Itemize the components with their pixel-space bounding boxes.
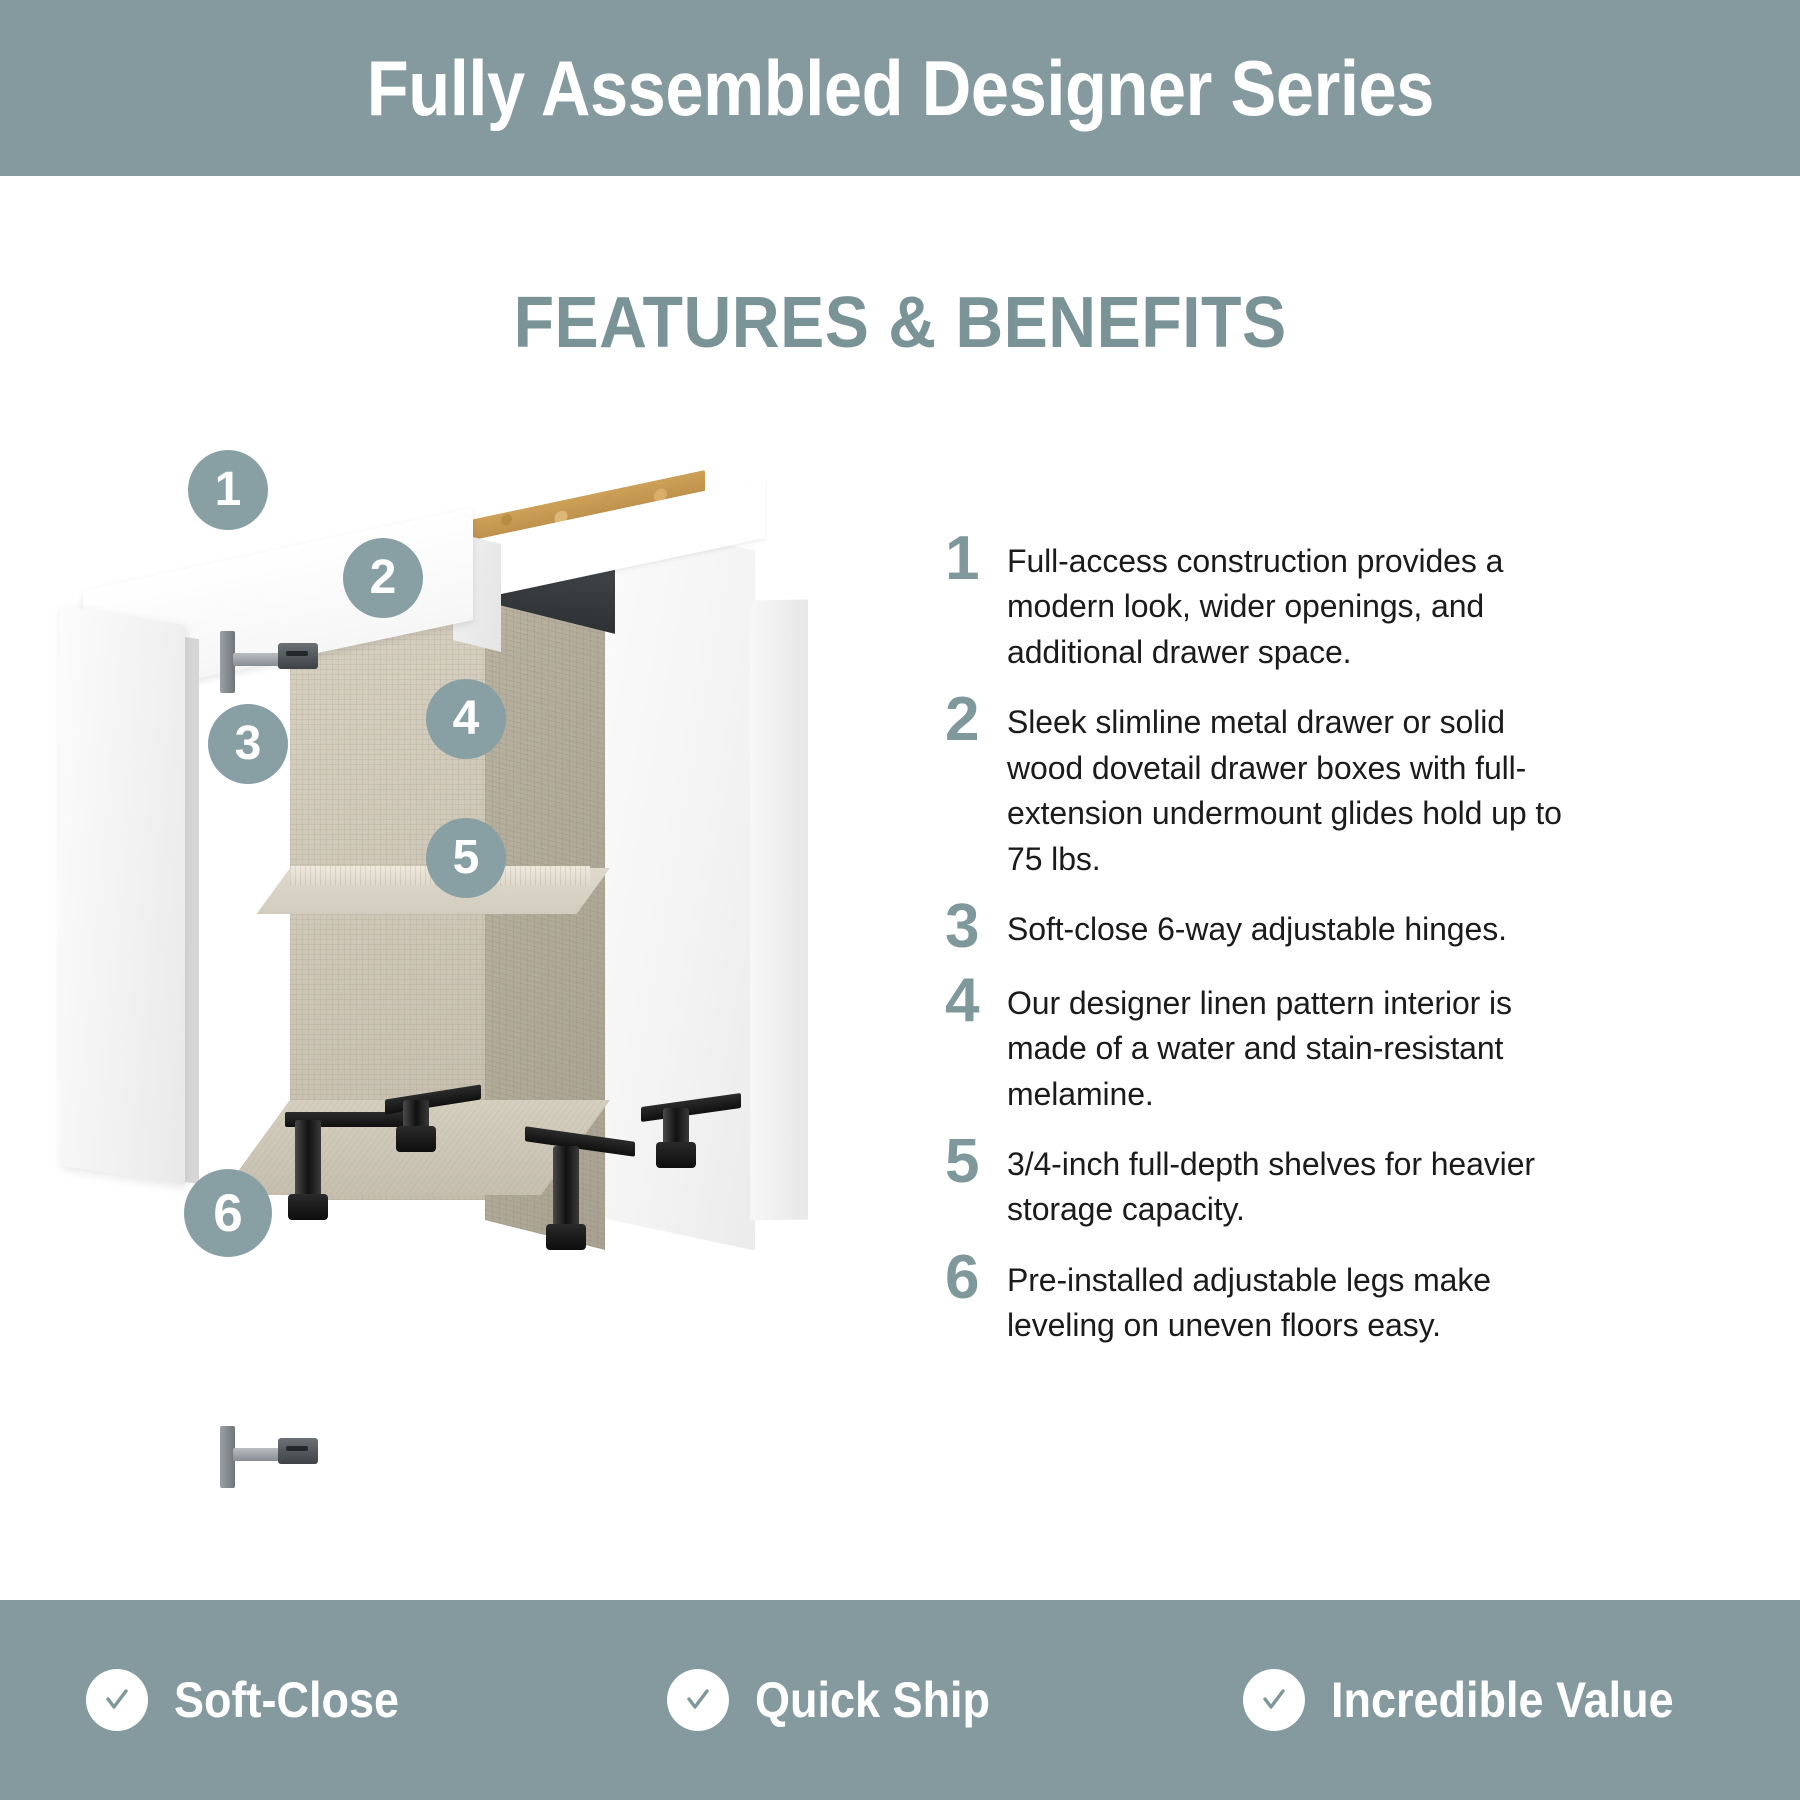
feature-number-1: 1: [945, 530, 1007, 588]
page-title: Fully Assembled Designer Series: [366, 43, 1433, 134]
footer-label-soft-close: Soft-Close: [174, 1671, 399, 1729]
check-circle-icon: [667, 1669, 729, 1731]
cabinet-front-edge: [750, 599, 808, 1220]
feature-item-6: 6 Pre-installed adjustable legs make lev…: [945, 1249, 1585, 1349]
adjustable-leg-front-left: [295, 1120, 321, 1220]
features-list: 1 Full-access construction provides a mo…: [945, 530, 1585, 1365]
check-circle-icon: [86, 1669, 148, 1731]
hinge-cup: [278, 1438, 318, 1464]
section-heading: FEATURES & BENEFITS: [0, 282, 1800, 364]
page-header: Fully Assembled Designer Series: [0, 0, 1800, 176]
callout-badge-3: 3: [208, 704, 288, 784]
check-circle-icon: [1243, 1669, 1305, 1731]
footer-badge-soft-close: Soft-Close: [0, 1669, 643, 1731]
callout-badge-5: 5: [426, 818, 506, 898]
feature-text-4: Our designer linen pattern interior is m…: [1007, 972, 1585, 1117]
footer-label-quick-ship: Quick Ship: [755, 1671, 990, 1729]
callout-badge-6: 6: [184, 1169, 272, 1257]
feature-item-1: 1 Full-access construction provides a mo…: [945, 530, 1585, 675]
callout-badge-1: 1: [188, 450, 268, 530]
cabinet-door-panel: [60, 605, 185, 1185]
feature-item-3: 3 Soft-close 6-way adjustable hinges.: [945, 898, 1585, 956]
feature-text-5: 3/4-inch full-depth shelves for heavier …: [1007, 1133, 1585, 1233]
feature-item-2: 2 Sleek slimline metal drawer or solid w…: [945, 691, 1585, 882]
adjustable-leg-back-right: [663, 1108, 689, 1168]
section-heading-label: FEATURES & BENEFITS: [513, 282, 1286, 364]
feature-item-4: 4 Our designer linen pattern interior is…: [945, 972, 1585, 1117]
feature-text-6: Pre-installed adjustable legs make level…: [1007, 1249, 1585, 1349]
adjustable-leg-front-right: [553, 1146, 579, 1250]
callout-badge-4: 4: [426, 679, 506, 759]
soft-close-hinge-upper-icon: [220, 645, 316, 679]
feature-number-2: 2: [945, 691, 1007, 749]
feature-text-3: Soft-close 6-way adjustable hinges.: [1007, 898, 1585, 952]
feature-number-6: 6: [945, 1249, 1007, 1307]
page-footer: Soft-Close Quick Ship Incredible Value: [0, 1600, 1800, 1800]
soft-close-hinge-lower-icon: [220, 1440, 316, 1474]
feature-text-2: Sleek slimline metal drawer or solid woo…: [1007, 691, 1585, 882]
feature-number-4: 4: [945, 972, 1007, 1030]
feature-item-5: 5 3/4-inch full-depth shelves for heavie…: [945, 1133, 1585, 1233]
feature-text-1: Full-access construction provides a mode…: [1007, 530, 1585, 675]
callout-badge-2: 2: [343, 538, 423, 618]
hinge-cup: [278, 643, 318, 669]
feature-number-3: 3: [945, 898, 1007, 956]
footer-badge-incredible-value: Incredible Value: [1223, 1669, 1800, 1731]
footer-badge-quick-ship: Quick Ship: [643, 1669, 1224, 1731]
footer-label-incredible-value: Incredible Value: [1331, 1671, 1674, 1729]
feature-number-5: 5: [945, 1133, 1007, 1191]
adjustable-leg-back-left: [403, 1100, 429, 1152]
